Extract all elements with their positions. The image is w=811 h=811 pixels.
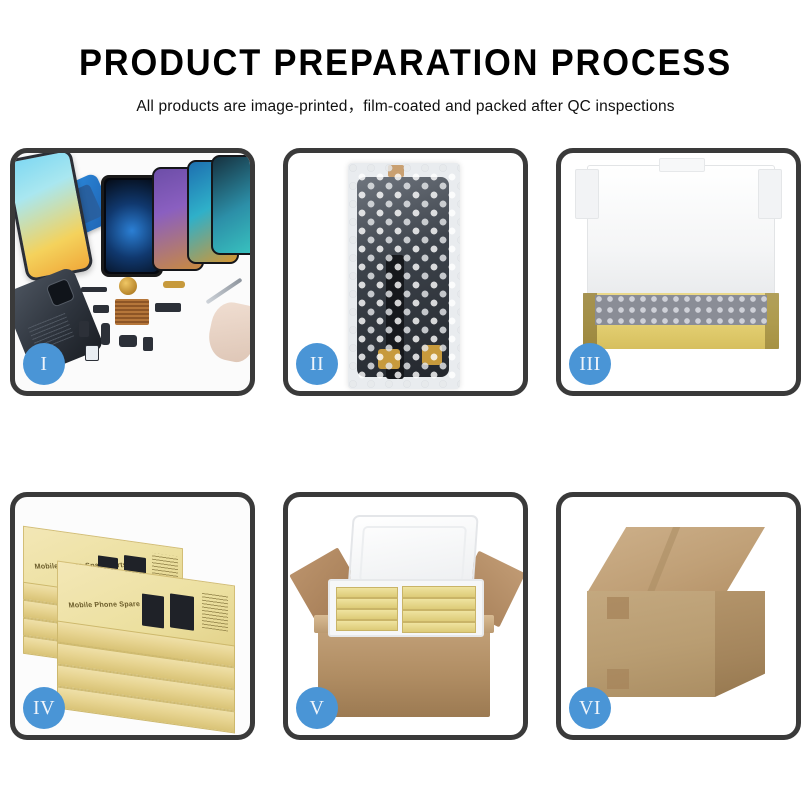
glass-chip-part [85,345,99,361]
step-panel-3: III [556,148,801,396]
camera-module-part [79,321,89,337]
box-thumb-b1 [142,593,164,628]
mailer-box-flap-left [575,169,599,219]
step-badge-1: I [23,343,65,385]
technician-hand [204,299,250,365]
mailer-box-flap-right [758,169,782,219]
mailer-box-tab [659,158,705,172]
antenna-strip-part [81,287,107,292]
speaker-part [119,277,137,295]
button-flex-part [155,303,181,312]
bubble-wrapped-contents [595,295,767,325]
header: PRODUCT PREPARATION PROCESS All products… [0,0,811,116]
step-panel-5: V [283,492,528,740]
packed-box-l4 [336,620,398,631]
mailer-box-base [583,293,779,349]
flex-cable-part [101,323,110,345]
foam-tray [328,579,484,637]
phone-screen-teal [211,155,250,255]
vibrator-part [119,335,137,347]
step-panel-1: I [10,148,255,396]
packed-box-l2 [336,598,398,609]
tweezers-tool [205,278,242,305]
carton-side-face [715,591,765,697]
packed-box-l3 [336,609,398,620]
box-end-right [765,293,779,349]
step-badge-5: V [296,687,338,729]
box-thumb-b2 [170,593,194,630]
packed-box-l1 [336,587,398,598]
step-panel-4: Mobile Phone Spare Parts Mobile Phone Sp… [10,492,255,740]
bubble-wrap-texture [348,163,460,389]
packed-box-r3 [402,610,476,622]
chip-array-part [115,299,149,325]
packed-box-r4 [402,622,476,633]
page-subtitle: All products are image-printed，film-coat… [0,94,811,116]
step-panel-6: VI [556,492,801,740]
step-badge-6: VI [569,687,611,729]
small-connector-part [93,305,109,313]
step-badge-4: IV [23,687,65,729]
packed-box-r2 [402,598,476,610]
box-spec-lines-front [202,592,228,632]
step-badge-2: II [296,343,338,385]
sim-tray-part [143,337,153,351]
step-panel-2: II [283,148,528,396]
mailer-box-lid [587,165,775,307]
steps-grid: I II [0,148,811,740]
carton-body [318,625,490,717]
gold-flex-part [163,281,185,288]
page-title: PRODUCT PREPARATION PROCESS [28,44,782,81]
phone-display-large [15,153,94,282]
bubble-wrapped-package [348,163,460,389]
carton-tape-upper [607,597,629,619]
packed-box-r1 [402,586,476,598]
carton-tape-lower [607,669,629,689]
step-badge-3: III [569,343,611,385]
product-preparation-infographic: PRODUCT PREPARATION PROCESS All products… [0,0,811,811]
